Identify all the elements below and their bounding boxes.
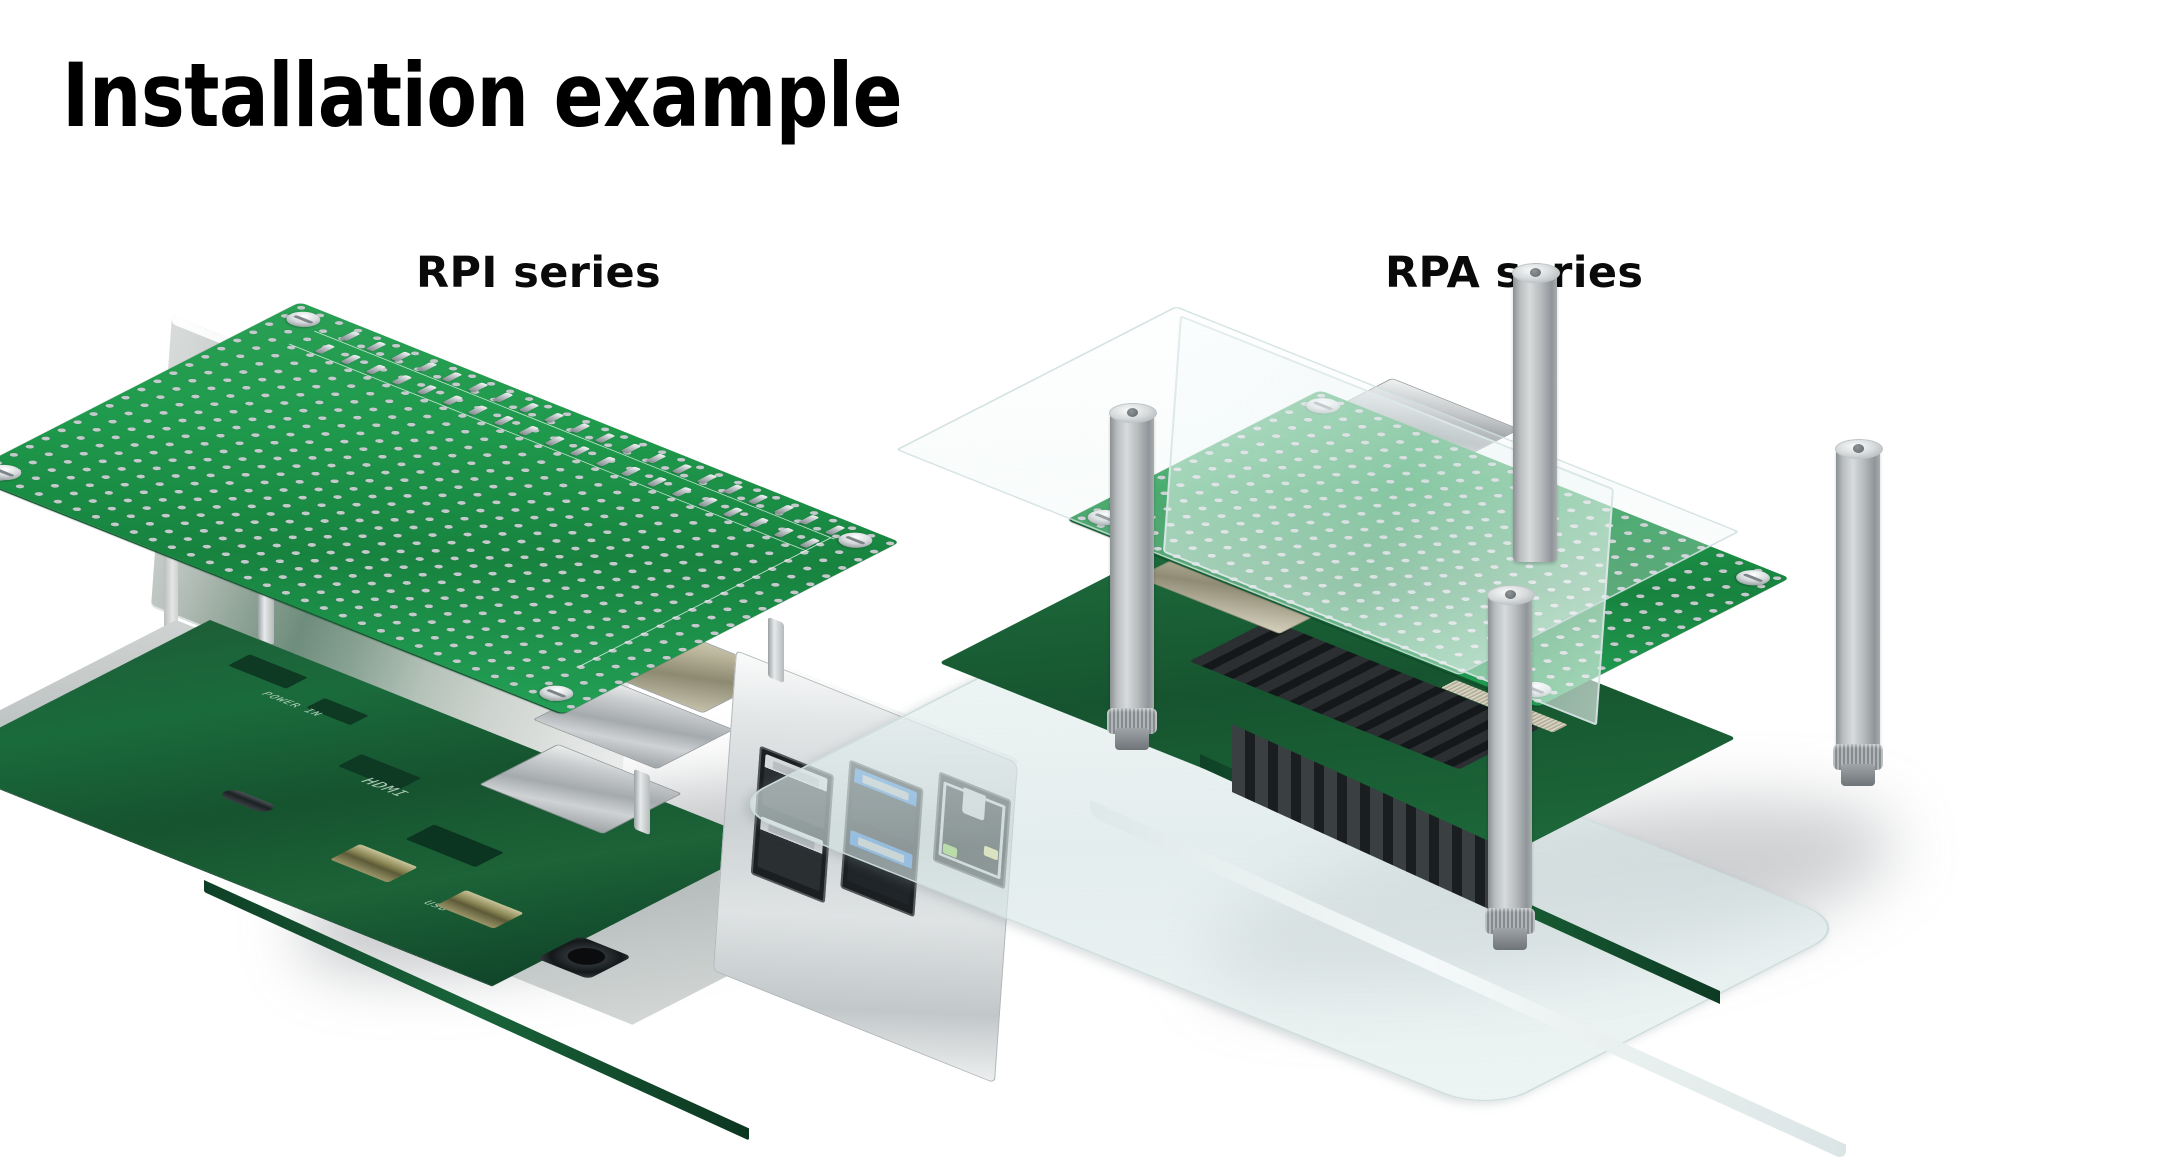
pillar-cap (1835, 439, 1883, 459)
product-image-rpa (1120, 320, 2060, 1000)
smd-component (405, 825, 504, 868)
standoff-pillar-left (1110, 412, 1154, 712)
standoff-pillar-front (1488, 594, 1532, 912)
hat-standoff-1 (634, 769, 650, 835)
pillar-cap (1109, 403, 1157, 423)
pillar-foot (1841, 764, 1875, 786)
hat-standoff-2 (768, 617, 784, 683)
product-label-rpi: RPI series (416, 248, 661, 298)
pillar-cap (1487, 585, 1535, 605)
smd-component (228, 654, 308, 688)
pillar-foot (1115, 728, 1149, 750)
standoff-pillar-back (1513, 272, 1557, 562)
standoff-pillar-right (1836, 448, 1880, 748)
pillar-foot (1493, 928, 1527, 950)
page-title: Installation example (62, 48, 902, 144)
pillar-cap (1512, 263, 1560, 283)
